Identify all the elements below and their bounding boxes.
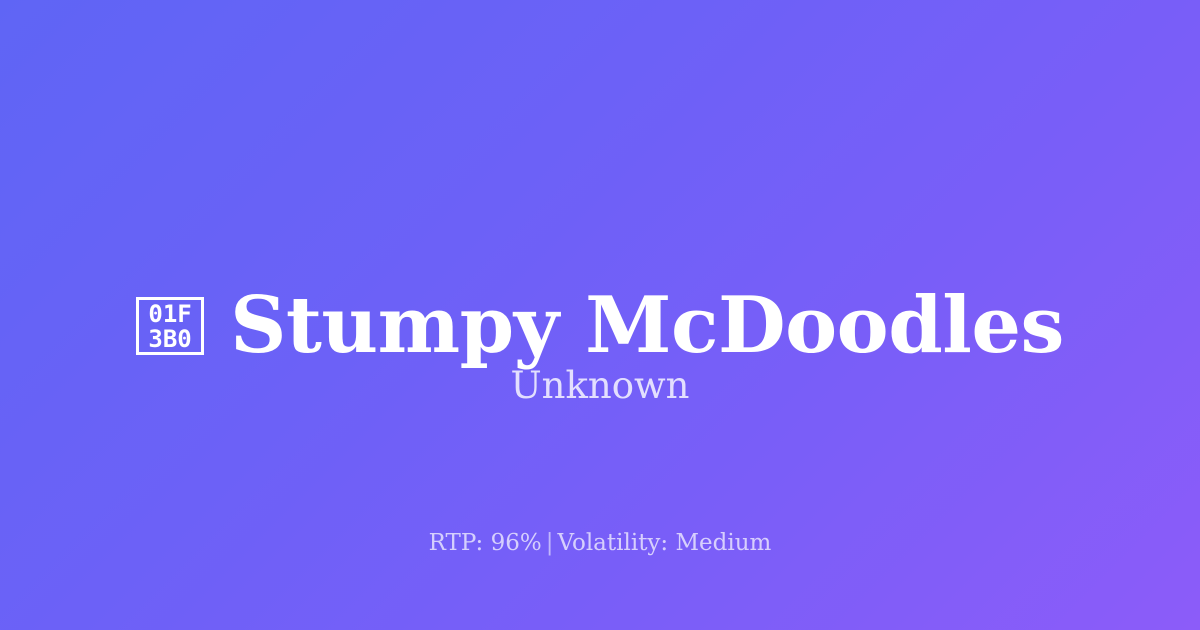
rtp-label: RTP: 96% [429,530,542,556]
tofu-codepoint-top: 01F [148,302,191,327]
tofu-codepoint-bottom: 3B0 [148,327,191,352]
meta-separator: | [542,530,558,556]
provider-label: Unknown [0,363,1200,409]
game-preview-card: 01F 3B0 Stumpy McDoodles Unknown RTP: 96… [0,0,1200,630]
game-meta-line: RTP: 96%|Volatility: Medium [0,528,1200,558]
slot-machine-tofu-icon: 01F 3B0 [136,297,204,355]
page-title: Stumpy McDoodles [230,284,1064,368]
volatility-label: Volatility: Medium [557,530,771,556]
